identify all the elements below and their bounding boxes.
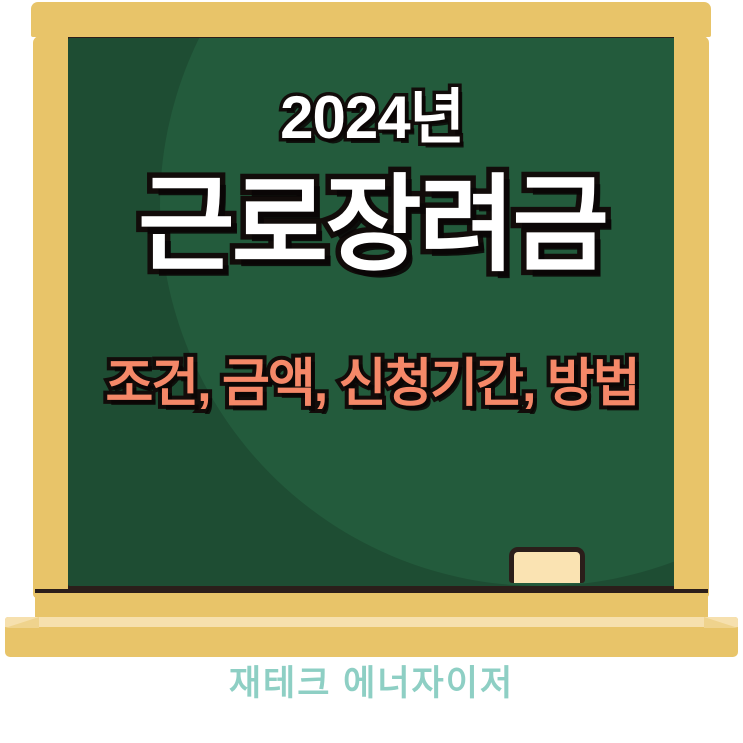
signature-text: 재테크 에너자이저 (229, 663, 514, 705)
signature: 재테크 에너자이저 (0, 663, 743, 705)
headline-group: 2024년 근로장려금 조건, 금액, 신청기간, 방법 (68, 38, 676, 586)
poster-canvas: 2024년 근로장려금 조건, 금액, 신청기간, 방법 재테크 에너자이저 (0, 0, 743, 743)
chalk-ledge-highlight (5, 617, 738, 627)
board-frame-top (31, 2, 711, 37)
headline-subtitle: 조건, 금액, 신청기간, 방법 (68, 358, 676, 410)
board-frame-left (33, 36, 68, 598)
board-frame-right (674, 36, 709, 598)
headline-year: 2024년 (68, 88, 676, 148)
chalkboard-surface: 2024년 근로장려금 조건, 금액, 신청기간, 방법 (68, 38, 676, 586)
headline-title: 근로장려금 (68, 173, 676, 278)
blackboard: 2024년 근로장려금 조건, 금액, 신청기간, 방법 (0, 0, 743, 660)
eraser-icon (509, 547, 585, 583)
